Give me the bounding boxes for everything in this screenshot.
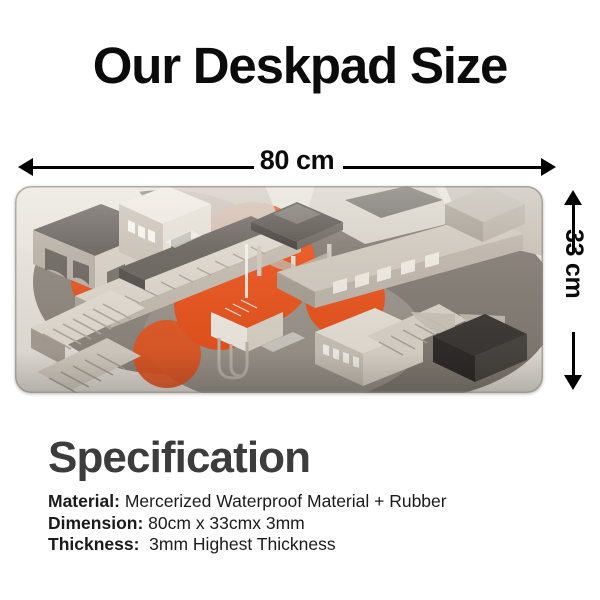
spec-key-dimension: Dimension: [48, 513, 143, 533]
spec-value-dimension: 80cm x 33cmx 3mm [143, 513, 304, 533]
spec-value-thickness: 3mm Highest Thickness [139, 534, 335, 554]
arrow-down-icon [564, 375, 582, 390]
spec-row-thickness: Thickness: 3mm Highest Thickness [48, 534, 588, 556]
spec-row-dimension: Dimension: 80cm x 33cmx 3mm [48, 513, 588, 535]
specification-heading: Specification [48, 434, 310, 482]
deskpad-artwork-svg [15, 186, 543, 393]
width-line-right-segment [343, 166, 545, 169]
height-line-bottom-segment [572, 332, 575, 379]
specification-list: Material: Mercerized Waterproof Material… [48, 491, 588, 556]
spec-key-material: Material: [48, 491, 120, 511]
width-line-left-segment [29, 166, 254, 169]
height-dimension-label: 33 cm [561, 229, 587, 297]
spec-key-thickness: Thickness: [48, 534, 139, 554]
spec-value-material: Mercerized Waterproof Material + Rubber [120, 491, 447, 511]
page-title: Our Deskpad Size [0, 38, 600, 93]
height-dimension-indicator: 33 cm [556, 190, 590, 390]
width-dimension-indicator: 80 cm [18, 150, 556, 184]
spec-row-material: Material: Mercerized Waterproof Material… [48, 491, 588, 513]
arrow-right-icon [541, 158, 556, 176]
deskpad-product-image [15, 186, 543, 393]
width-dimension-label: 80 cm [247, 147, 347, 174]
